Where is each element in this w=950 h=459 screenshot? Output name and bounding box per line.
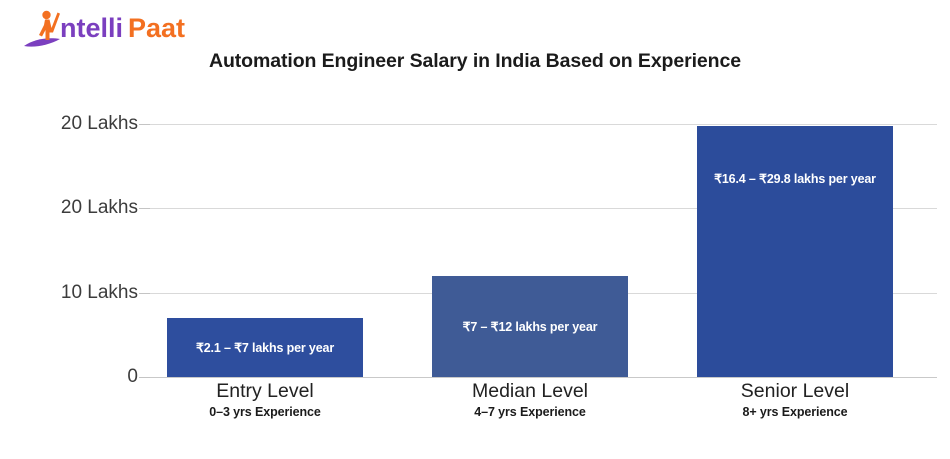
category-name: Median Level <box>390 381 670 401</box>
y-axis-tick-mark <box>139 377 150 378</box>
y-axis-tick-label: 10 Lakhs <box>61 282 138 304</box>
y-axis-tick-mark <box>139 208 150 209</box>
y-axis-tick-label: 20 Lakhs <box>61 197 138 219</box>
bar-value-label: ₹7 – ₹12 lakhs per year <box>432 319 628 334</box>
category-subtitle: 8+ yrs Experience <box>655 405 935 419</box>
category-subtitle: 0–3 yrs Experience <box>125 405 405 419</box>
category-name: Senior Level <box>655 381 935 401</box>
category-subtitle: 4–7 yrs Experience <box>390 405 670 419</box>
bar-chart: 20 Lakhs20 Lakhs10 Lakhs0 ₹2.1 – ₹7 lakh… <box>0 0 950 459</box>
bar-median-level[interactable]: ₹7 – ₹12 lakhs per year <box>432 276 628 377</box>
bar-entry-level[interactable]: ₹2.1 – ₹7 lakhs per year <box>167 318 363 377</box>
y-axis-tick-mark <box>139 124 150 125</box>
x-axis-category-senior-level: Senior Level8+ yrs Experience <box>655 381 935 419</box>
x-axis-category-median-level: Median Level4–7 yrs Experience <box>390 381 670 419</box>
gridline <box>150 377 937 378</box>
category-name: Entry Level <box>125 381 405 401</box>
y-axis-tick-label: 20 Lakhs <box>61 113 138 135</box>
bar-senior-level[interactable]: ₹16.4 – ₹29.8 lakhs per year <box>697 126 893 377</box>
bar-value-label: ₹2.1 – ₹7 lakhs per year <box>167 340 363 355</box>
x-axis-category-entry-level: Entry Level0–3 yrs Experience <box>125 381 405 419</box>
y-axis-tick-mark <box>139 293 150 294</box>
bar-value-label: ₹16.4 – ₹29.8 lakhs per year <box>697 171 893 186</box>
